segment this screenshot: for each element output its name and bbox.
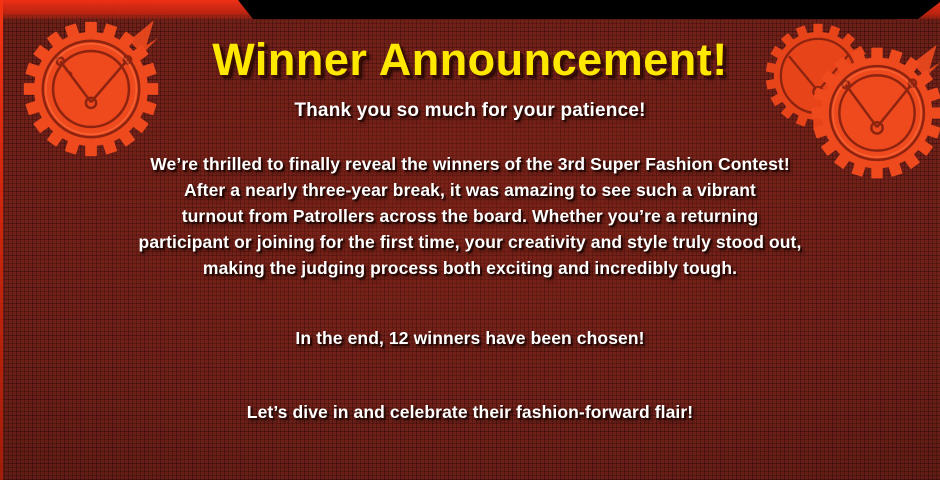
body-line: making the judging process both exciting… xyxy=(30,255,910,281)
body-line: We’re thrilled to finally reveal the win… xyxy=(30,151,910,177)
body-line: participant or joining for the first tim… xyxy=(30,229,910,255)
body-line: After a nearly three-year break, it was … xyxy=(30,177,910,203)
winner-count-statement: In the end, 12 winners have been chosen! xyxy=(295,325,644,351)
closing-call-to-action: Let’s dive in and celebrate their fashio… xyxy=(247,399,693,425)
body-paragraph: We’re thrilled to finally reveal the win… xyxy=(30,151,910,281)
winner-announcement-banner: Winner Announcement! Thank you so much f… xyxy=(0,0,940,480)
subtitle-text: Thank you so much for your patience! xyxy=(294,100,645,122)
page-title: Winner Announcement! xyxy=(212,36,727,83)
announcement-content: Winner Announcement! Thank you so much f… xyxy=(0,0,940,480)
body-line: turnout from Patrollers across the board… xyxy=(30,203,910,229)
